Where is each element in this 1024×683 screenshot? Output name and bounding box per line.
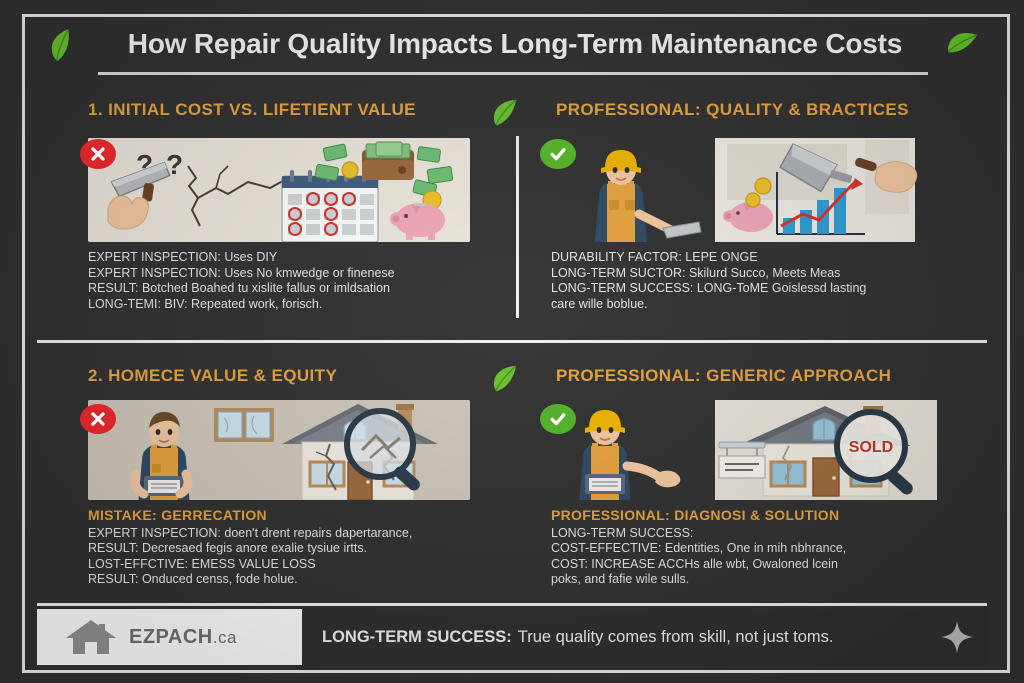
illustration-diy-failure: ? ? [88, 138, 470, 242]
body-line: EXPERT INSPECTION: doen't drent repairs … [88, 526, 488, 542]
panel-home-value: 2. HOMECE VALUE & EQUITY [88, 366, 488, 386]
brand-name: EZPACH.ca [129, 626, 237, 649]
panel-initial-cost: 1. INITIAL COST VS. LIFETIENT VALUE [88, 100, 488, 120]
page-title: How Repair Quality Impacts Long-Term Mai… [110, 22, 920, 66]
panel-subheading: PROFESSIONAL: DIAGNOSI & SOLUTION [551, 508, 971, 524]
panel-generic-approach: PROFESSIONAL: GENERIC APPROACH [492, 366, 962, 386]
body-line: EXPERT INSPECTION: Uses DIY [88, 250, 488, 266]
panel-body-professional-quality: DURABILITY FACTOR: LEPE ONGE LONG-TERM S… [551, 250, 971, 312]
body-line: poks, and fafie wile sulls. [551, 572, 971, 588]
svg-text:SOLD: SOLD [849, 439, 893, 456]
check-badge [540, 404, 576, 434]
house-icon [65, 618, 117, 656]
leaf-icon [943, 24, 980, 62]
body-line: DURABILITY FACTOR: LEPE ONGE [551, 250, 971, 266]
poster-footer: EZPACH.ca LONG-TERM SUCCESS: True qualit… [37, 609, 987, 667]
check-badge [540, 139, 576, 169]
panel-heading: 1. INITIAL COST VS. LIFETIENT VALUE [88, 100, 488, 120]
body-line: COST: INCREASE ACCHs alle wbt, Owaloned … [551, 557, 971, 573]
body-line: LONG-TEMI: BIV: Repeated work, forisch. [88, 297, 488, 313]
illustration-professional-quality [545, 138, 955, 242]
body-line: care wille boblue. [551, 297, 971, 313]
body-line: EXPERT INSPECTION: Uses No kmwedge or fi… [88, 266, 488, 282]
sparkle-icon [941, 621, 973, 653]
x-badge [80, 139, 116, 169]
section-divider [37, 340, 987, 343]
body-line: LOST-EFFCTIVE: EMESS VALUE LOSS [88, 557, 488, 573]
infographic-poster: How Repair Quality Impacts Long-Term Mai… [0, 0, 1024, 683]
poster-header: How Repair Quality Impacts Long-Term Mai… [40, 22, 984, 84]
panel-body-generic-approach: PROFESSIONAL: DIAGNOSI & SOLUTION LONG-T… [551, 508, 971, 588]
leaf-icon [492, 364, 518, 392]
illustration-generic-approach: SOLD [545, 400, 955, 500]
panel-heading: PROFESSIONAL: QUALITY & BRACTICES [556, 100, 962, 120]
footer-tagline: LONG-TERM SUCCESS: True quality comes fr… [302, 609, 987, 665]
brand-tld: .ca [213, 628, 237, 647]
illustration-home-value-loss [88, 400, 470, 500]
panel-subheading: MISTAKE: GERRECATION [88, 508, 488, 524]
brand-logo[interactable]: EZPACH.ca [37, 609, 302, 665]
body-line: RESULT: Decresaed fegis anore exalie tys… [88, 541, 488, 557]
footer-divider [37, 603, 987, 606]
panel-body-initial-cost: EXPERT INSPECTION: Uses DIY EXPERT INSPE… [88, 250, 488, 312]
panel-heading: 2. HOMECE VALUE & EQUITY [88, 366, 488, 386]
tagline-text: True quality comes from skill, not just … [518, 628, 834, 647]
tagline-label: LONG-TERM SUCCESS: [322, 628, 512, 647]
x-badge [80, 404, 116, 434]
panel-professional-quality: PROFESSIONAL: QUALITY & BRACTICES [492, 100, 962, 120]
panel-body-home-value: MISTAKE: GERRECATION EXPERT INSPECTION: … [88, 508, 488, 588]
body-line: LONG-TERM SUCCESS: [551, 526, 971, 542]
column-divider [516, 136, 519, 318]
body-line: COST-EFFECTIVE: Edentities, One in mih n… [551, 541, 971, 557]
leaf-icon [44, 26, 80, 63]
title-underline [98, 72, 928, 75]
body-line: RESULT: Botched Boahed tu xislite fallus… [88, 281, 488, 297]
leaf-icon [492, 98, 518, 126]
brand-name-text: EZPACH [129, 626, 213, 648]
panel-heading: PROFESSIONAL: GENERIC APPROACH [556, 366, 962, 386]
body-line: LONG-TERM SUCCESS: LONG-ToME Goislessd l… [551, 281, 971, 297]
body-line: LONG-TERM SUCTOR: Skilurd Succo, Meets M… [551, 266, 971, 282]
body-line: RESULT: Onduced censs, fode holue. [88, 572, 488, 588]
